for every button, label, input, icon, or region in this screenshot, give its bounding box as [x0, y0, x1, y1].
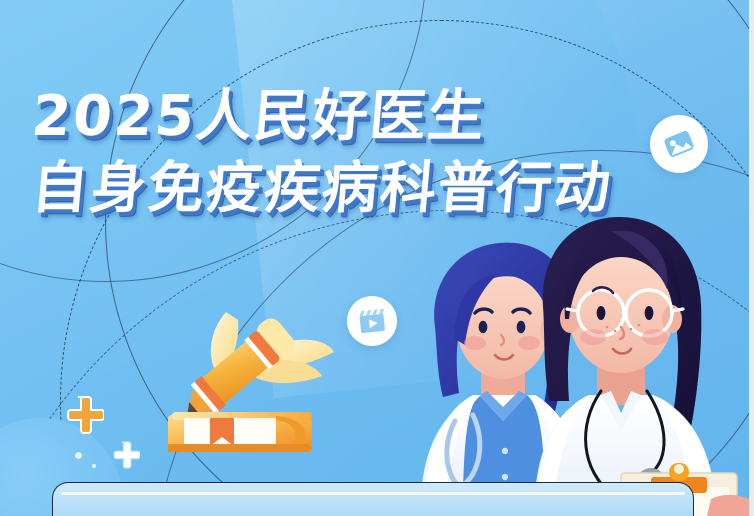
title-line-2: 自身免疫疾病科普行动 [29, 154, 615, 224]
pencil-and-book-illustration [168, 300, 358, 490]
title-line-1: 2025人民好医生 [29, 82, 615, 152]
video-clapperboard-icon [347, 296, 397, 346]
background-dot [75, 452, 82, 459]
campaign-banner: 2025人民好医生 自身免疫疾病科普行动 [0, 0, 754, 516]
open-book [168, 412, 312, 452]
plus-icon [110, 440, 140, 470]
image-icon [650, 115, 708, 173]
plus-icon [62, 394, 104, 436]
doctor-right [535, 217, 717, 516]
background-dot [92, 464, 96, 468]
device-panel [52, 482, 694, 516]
page-title: 2025人民好医生 自身免疫疾病科普行动 [32, 82, 612, 224]
doctors-illustration [415, 215, 754, 516]
